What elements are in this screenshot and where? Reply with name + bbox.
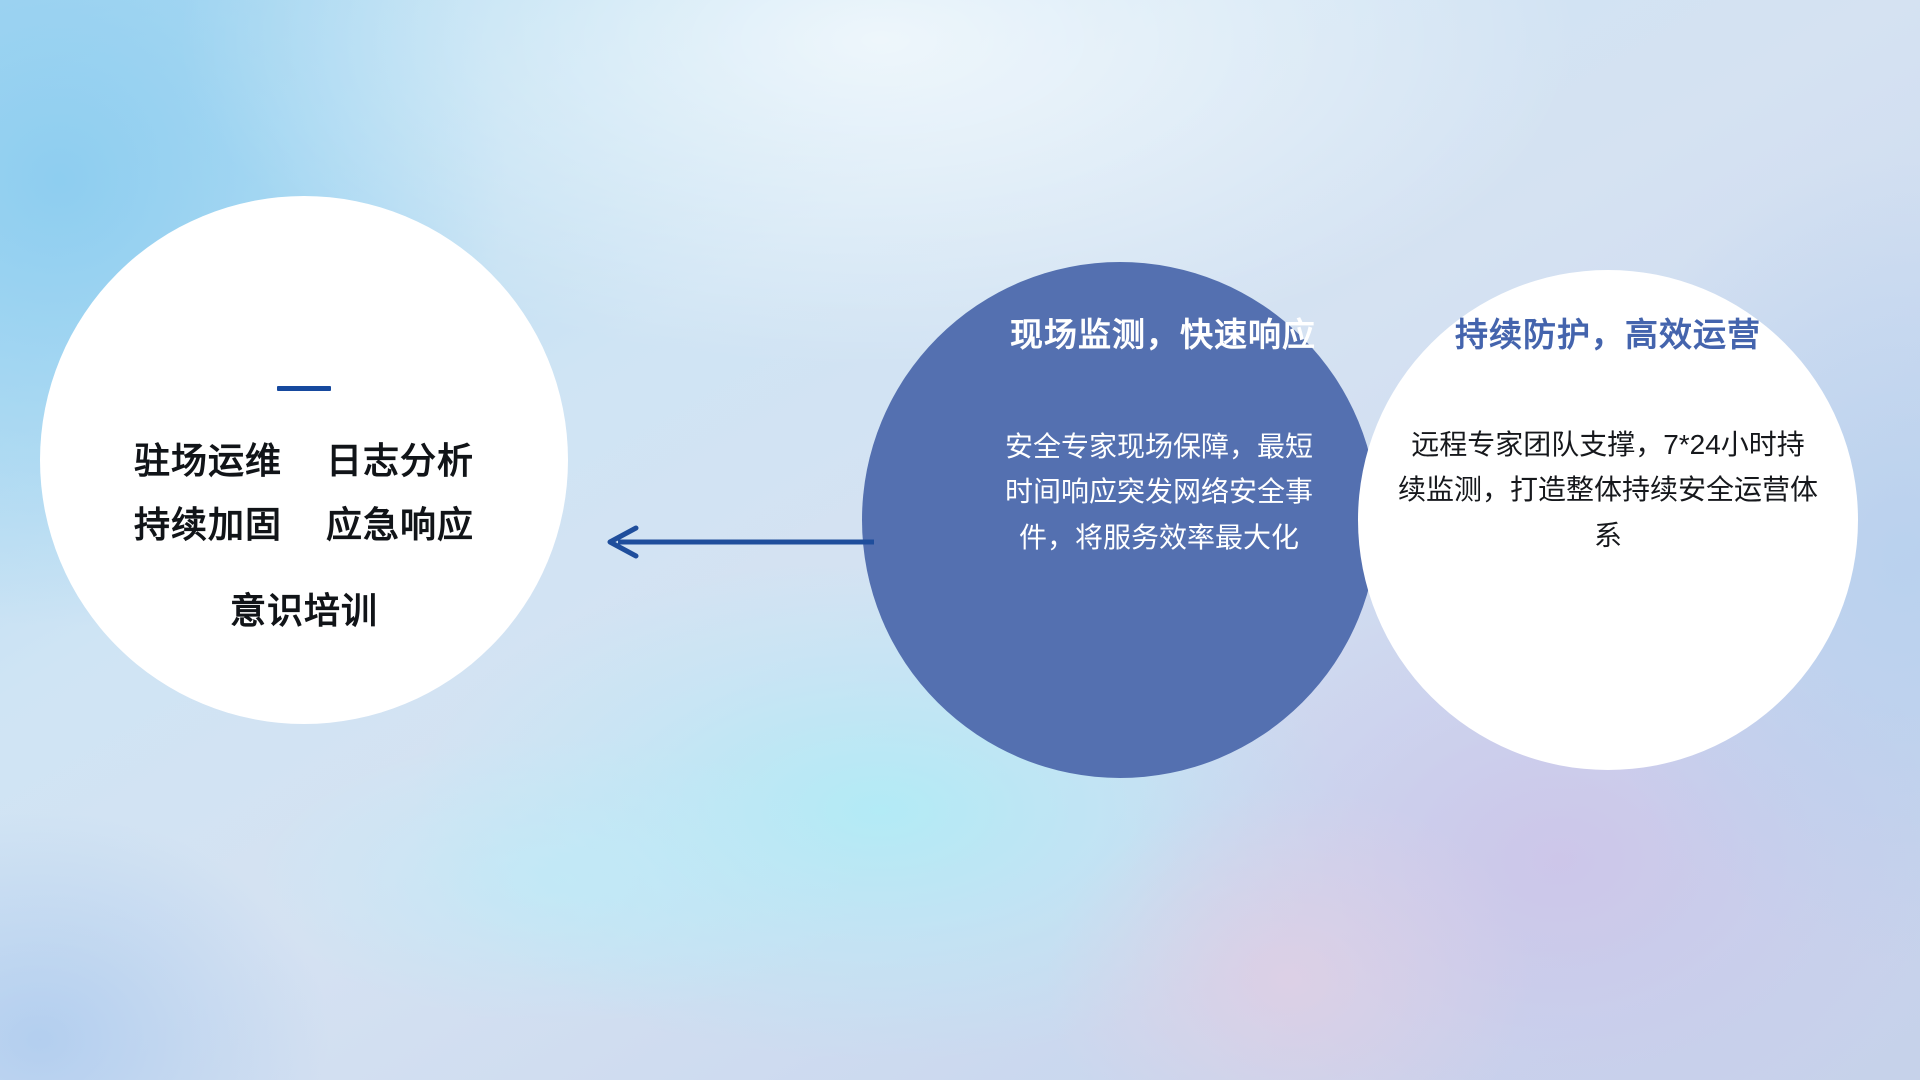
left-keyword-line-3: 意识培训 [230, 593, 378, 629]
left-circle-content: 驻场运维 日志分析 持续加固 应急响应 意识培训 [40, 196, 568, 724]
left-keyword-line-2: 持续加固 应急响应 [134, 507, 474, 543]
middle-circle-shape [862, 262, 1378, 778]
slide-canvas: 驻场运维 日志分析 持续加固 应急响应 意识培训 现场监测，快速响应 安全专家现… [0, 0, 1920, 1080]
right-circle-shape [1358, 270, 1858, 770]
flow-arrow-icon [596, 520, 878, 564]
left-divider-dash [277, 386, 331, 391]
left-keyword-line-1: 驻场运维 日志分析 [134, 443, 474, 479]
